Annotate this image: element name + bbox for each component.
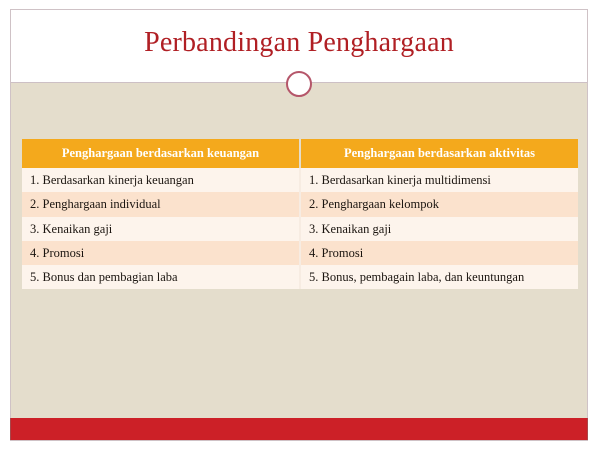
table-cell-left: 3. Kenaikan gaji — [22, 217, 300, 241]
ring-ornament-icon — [286, 71, 312, 97]
slide-canvas: Perbandingan Penghargaan Penghargaan ber… — [0, 0, 600, 449]
slide-frame: Perbandingan Penghargaan Penghargaan ber… — [10, 9, 588, 441]
table-cell-left: 1. Berdasarkan kinerja keuangan — [22, 168, 300, 192]
table-row: 1. Berdasarkan kinerja keuangan 1. Berda… — [22, 168, 578, 192]
slide-body: Penghargaan berdasarkan keuangan Penghar… — [11, 84, 587, 440]
table-header-cell-aktivitas: Penghargaan berdasarkan aktivitas — [300, 139, 578, 168]
table-cell-left: 5. Bonus dan pembagian laba — [22, 265, 300, 289]
comparison-table: Penghargaan berdasarkan keuangan Penghar… — [22, 139, 578, 289]
table-row: 5. Bonus dan pembagian laba 5. Bonus, pe… — [22, 265, 578, 289]
slide-bottom-bar — [10, 418, 588, 440]
table-cell-right: 2. Penghargaan kelompok — [300, 192, 578, 216]
table-cell-left: 2. Penghargaan individual — [22, 192, 300, 216]
table-cell-left: 4. Promosi — [22, 241, 300, 265]
table-row: 4. Promosi 4. Promosi — [22, 241, 578, 265]
page-title: Perbandingan Penghargaan — [11, 27, 587, 59]
table-row: 2. Penghargaan individual 2. Penghargaan… — [22, 192, 578, 216]
table-cell-right: 1. Berdasarkan kinerja multidimensi — [300, 168, 578, 192]
table-cell-right: 3. Kenaikan gaji — [300, 217, 578, 241]
table-cell-right: 5. Bonus, pembagain laba, dan keuntungan — [300, 265, 578, 289]
table-header-row: Penghargaan berdasarkan keuangan Penghar… — [22, 139, 578, 168]
table-cell-right: 4. Promosi — [300, 241, 578, 265]
table-header-cell-keuangan: Penghargaan berdasarkan keuangan — [22, 139, 300, 168]
table-row: 3. Kenaikan gaji 3. Kenaikan gaji — [22, 217, 578, 241]
